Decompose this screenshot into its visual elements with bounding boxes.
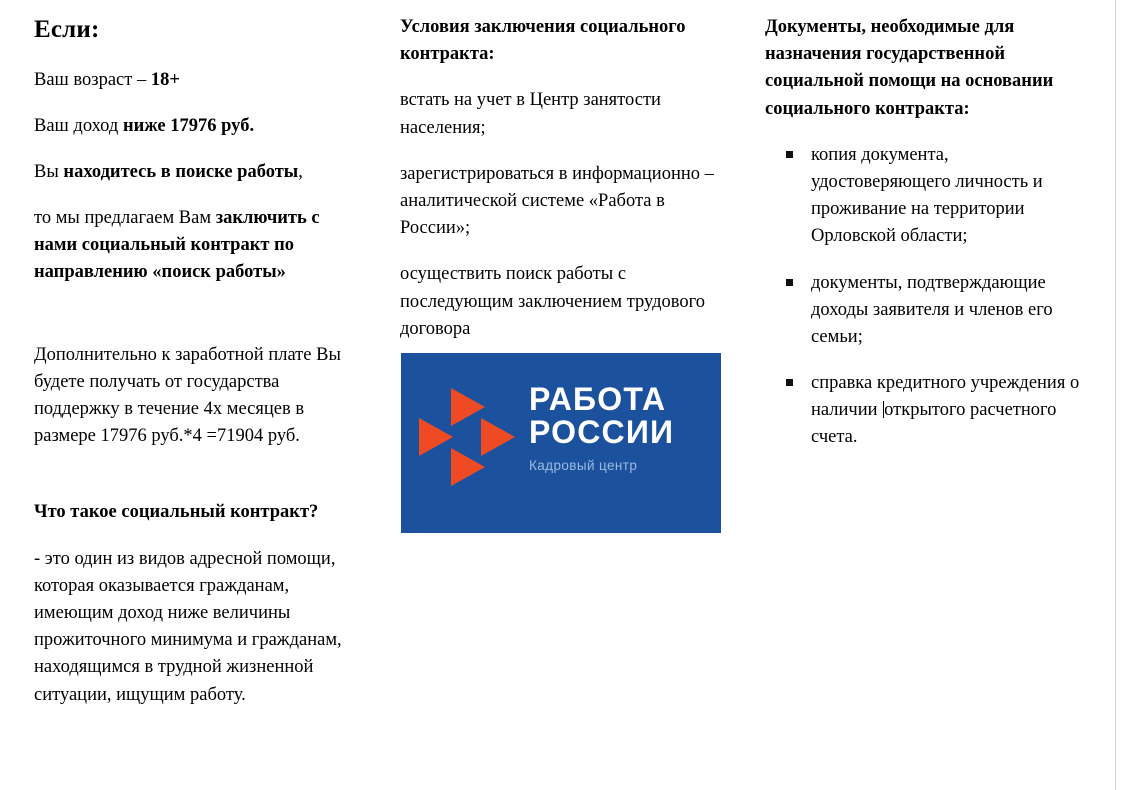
logo-subtitle: Кадровый центр [529,457,674,475]
column-left-heading: Если: [34,14,364,47]
condition-age-prefix: Ваш возраст – [34,70,151,90]
page-margin-guide [1115,0,1116,790]
condition-item-2: зарегистрироваться в информационно – ана… [400,161,725,243]
square-bullet-icon [786,279,793,286]
condition-item-1: встать на учет в Центр занятости населен… [400,87,725,141]
condition-job-search-bold: находитесь в поиске работы [63,162,298,182]
triangle-bottom-icon [451,448,485,486]
rabota-rossii-triangles-icon [419,387,515,487]
document-item-2: документы, подтверждающие доходы заявите… [765,270,1090,352]
spacer-left-1 [34,306,364,342]
column-middle-heading: Условия заключения социального контракта… [400,14,725,68]
definition-heading: Что такое социальный контракт? [34,499,364,526]
required-documents-list: копия документа, удостоверяющего личност… [765,142,1090,452]
condition-income: Ваш доход ниже 17976 руб. [34,113,364,140]
triangle-left-icon [419,418,453,456]
column-left: Если: Ваш возраст – 18+ Ваш доход ниже 1… [34,14,364,728]
condition-age: Ваш возраст – 18+ [34,67,364,94]
support-paragraph: Дополнительно к заработной плате Вы буде… [34,342,364,451]
condition-age-value: 18+ [151,70,180,90]
document-page: Если: Ваш возраст – 18+ Ваш доход ниже 1… [0,0,1122,790]
document-item-2-text: документы, подтверждающие доходы заявите… [811,273,1053,347]
condition-job-search-suffix: , [298,162,303,182]
document-item-1: копия документа, удостоверяющего личност… [765,142,1090,251]
column-right-heading: Документы, необходимые для назначения го… [765,14,1090,123]
definition-paragraph: - это один из видов адресной помощи, кот… [34,546,364,709]
logo-inner: РАБОТА РОССИИ Кадровый центр [419,383,704,503]
square-bullet-icon [786,379,793,386]
logo-line-1: РАБОТА [529,383,674,416]
condition-item-3: осуществить поиск работы с последующим з… [400,261,725,343]
condition-job-search-prefix: Вы [34,162,63,182]
column-middle: Условия заключения социального контракта… [400,14,725,362]
column-right: Документы, необходимые для назначения го… [765,14,1090,471]
rabota-rossii-logo: РАБОТА РОССИИ Кадровый центр [401,353,721,533]
document-item-3: справка кредитного учреждения о наличии … [765,370,1090,452]
logo-line-2: РОССИИ [529,416,674,449]
square-bullet-icon [786,151,793,158]
logo-text-block: РАБОТА РОССИИ Кадровый центр [529,383,674,475]
triangle-right-icon [481,418,515,456]
offer-statement-prefix: то мы предлагаем Вам [34,208,216,228]
condition-job-search: Вы находитесь в поиске работы, [34,159,364,186]
triangle-top-icon [451,388,485,426]
condition-income-value: ниже 17976 руб. [123,116,254,136]
offer-statement: то мы предлагаем Вам заключить с нами со… [34,205,364,287]
spacer-left-2 [34,469,364,499]
condition-income-prefix: Ваш доход [34,116,123,136]
document-item-1-text: копия документа, удостоверяющего личност… [811,145,1043,247]
